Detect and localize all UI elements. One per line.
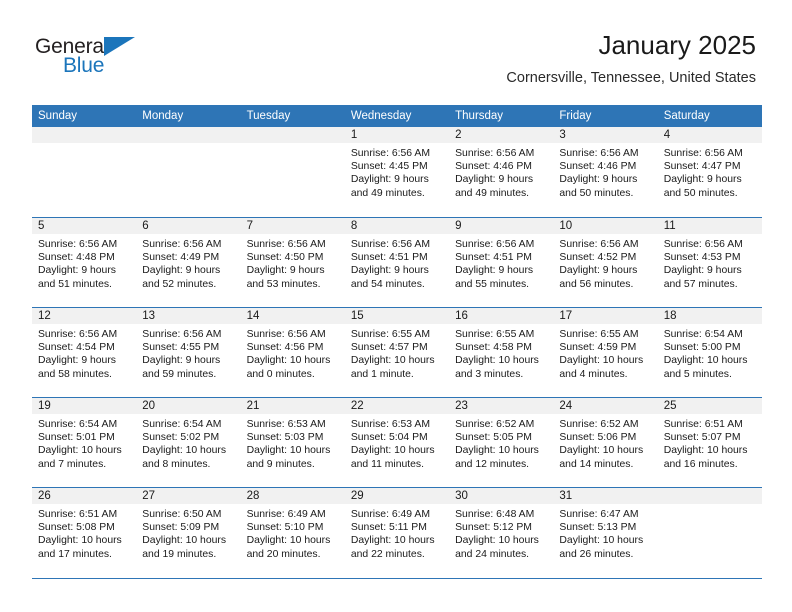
day-cell[interactable]: 16Sunrise: 6:55 AM Sunset: 4:58 PM Dayli… (449, 307, 553, 397)
day-cell[interactable]: 22Sunrise: 6:53 AM Sunset: 5:04 PM Dayli… (345, 397, 449, 487)
day-cell[interactable] (658, 487, 762, 577)
day-number: 14 (241, 308, 345, 324)
day-cell[interactable]: 23Sunrise: 6:52 AM Sunset: 5:05 PM Dayli… (449, 397, 553, 487)
day-cell[interactable]: 27Sunrise: 6:50 AM Sunset: 5:09 PM Dayli… (136, 487, 240, 577)
day-details: Sunrise: 6:55 AM Sunset: 4:59 PM Dayligh… (553, 324, 657, 381)
day-cell[interactable]: 3Sunrise: 6:56 AM Sunset: 4:46 PM Daylig… (553, 127, 657, 217)
day-number: 5 (32, 218, 136, 234)
day-cell[interactable]: 25Sunrise: 6:51 AM Sunset: 5:07 PM Dayli… (658, 397, 762, 487)
day-number: 17 (553, 308, 657, 324)
brand-logo[interactable]: General Blue (35, 36, 135, 76)
day-cell[interactable]: 20Sunrise: 6:54 AM Sunset: 5:02 PM Dayli… (136, 397, 240, 487)
day-cell[interactable]: 24Sunrise: 6:52 AM Sunset: 5:06 PM Dayli… (553, 397, 657, 487)
day-details: Sunrise: 6:56 AM Sunset: 4:52 PM Dayligh… (553, 234, 657, 291)
day-details: Sunrise: 6:49 AM Sunset: 5:11 PM Dayligh… (345, 504, 449, 561)
day-cell[interactable]: 31Sunrise: 6:47 AM Sunset: 5:13 PM Dayli… (553, 487, 657, 577)
day-number: 6 (136, 218, 240, 234)
day-number: 19 (32, 398, 136, 414)
day-details: Sunrise: 6:56 AM Sunset: 4:45 PM Dayligh… (345, 143, 449, 200)
day-number: 26 (32, 488, 136, 504)
day-details: Sunrise: 6:49 AM Sunset: 5:10 PM Dayligh… (241, 504, 345, 561)
day-cell[interactable]: 13Sunrise: 6:56 AM Sunset: 4:55 PM Dayli… (136, 307, 240, 397)
day-number: 30 (449, 488, 553, 504)
sunrise-sunset-calendar: Sunday Monday Tuesday Wednesday Thursday… (32, 105, 762, 577)
day-cell[interactable]: 7Sunrise: 6:56 AM Sunset: 4:50 PM Daylig… (241, 217, 345, 307)
day-cell[interactable]: 29Sunrise: 6:49 AM Sunset: 5:11 PM Dayli… (345, 487, 449, 577)
day-details: Sunrise: 6:53 AM Sunset: 5:03 PM Dayligh… (241, 414, 345, 471)
day-number (658, 488, 762, 504)
day-number: 24 (553, 398, 657, 414)
day-cell[interactable]: 6Sunrise: 6:56 AM Sunset: 4:49 PM Daylig… (136, 217, 240, 307)
day-cell[interactable] (32, 127, 136, 217)
location-subtitle: Cornersville, Tennessee, United States (506, 70, 756, 86)
day-details: Sunrise: 6:51 AM Sunset: 5:08 PM Dayligh… (32, 504, 136, 561)
day-details: Sunrise: 6:56 AM Sunset: 4:47 PM Dayligh… (658, 143, 762, 200)
triangle-flag-icon (104, 37, 135, 56)
page-title: January 2025 (506, 30, 756, 61)
day-details: Sunrise: 6:48 AM Sunset: 5:12 PM Dayligh… (449, 504, 553, 561)
column-header-sunday: Sunday (32, 105, 136, 127)
day-cell[interactable]: 18Sunrise: 6:54 AM Sunset: 5:00 PM Dayli… (658, 307, 762, 397)
calendar-body: 1Sunrise: 6:56 AM Sunset: 4:45 PM Daylig… (32, 127, 762, 577)
day-number: 21 (241, 398, 345, 414)
day-number: 20 (136, 398, 240, 414)
day-details: Sunrise: 6:55 AM Sunset: 4:58 PM Dayligh… (449, 324, 553, 381)
day-number (241, 127, 345, 143)
column-header-monday: Monday (136, 105, 240, 127)
day-number: 23 (449, 398, 553, 414)
day-cell[interactable]: 28Sunrise: 6:49 AM Sunset: 5:10 PM Dayli… (241, 487, 345, 577)
day-cell[interactable]: 19Sunrise: 6:54 AM Sunset: 5:01 PM Dayli… (32, 397, 136, 487)
day-details: Sunrise: 6:51 AM Sunset: 5:07 PM Dayligh… (658, 414, 762, 471)
day-details: Sunrise: 6:52 AM Sunset: 5:06 PM Dayligh… (553, 414, 657, 471)
day-details: Sunrise: 6:56 AM Sunset: 4:46 PM Dayligh… (553, 143, 657, 200)
day-number (136, 127, 240, 143)
day-cell[interactable]: 5Sunrise: 6:56 AM Sunset: 4:48 PM Daylig… (32, 217, 136, 307)
day-details: Sunrise: 6:56 AM Sunset: 4:50 PM Dayligh… (241, 234, 345, 291)
day-details: Sunrise: 6:54 AM Sunset: 5:00 PM Dayligh… (658, 324, 762, 381)
column-header-saturday: Saturday (658, 105, 762, 127)
day-cell[interactable]: 30Sunrise: 6:48 AM Sunset: 5:12 PM Dayli… (449, 487, 553, 577)
day-number: 3 (553, 127, 657, 143)
day-cell[interactable]: 12Sunrise: 6:56 AM Sunset: 4:54 PM Dayli… (32, 307, 136, 397)
day-number: 10 (553, 218, 657, 234)
day-details: Sunrise: 6:56 AM Sunset: 4:56 PM Dayligh… (241, 324, 345, 381)
day-number: 15 (345, 308, 449, 324)
day-details: Sunrise: 6:56 AM Sunset: 4:48 PM Dayligh… (32, 234, 136, 291)
calendar-bottom-rule (32, 578, 762, 579)
day-details: Sunrise: 6:56 AM Sunset: 4:51 PM Dayligh… (345, 234, 449, 291)
day-number: 28 (241, 488, 345, 504)
day-details: Sunrise: 6:54 AM Sunset: 5:01 PM Dayligh… (32, 414, 136, 471)
day-cell[interactable]: 10Sunrise: 6:56 AM Sunset: 4:52 PM Dayli… (553, 217, 657, 307)
column-header-wednesday: Wednesday (345, 105, 449, 127)
week-row: 5Sunrise: 6:56 AM Sunset: 4:48 PM Daylig… (32, 217, 762, 307)
day-cell[interactable]: 11Sunrise: 6:56 AM Sunset: 4:53 PM Dayli… (658, 217, 762, 307)
week-row: 1Sunrise: 6:56 AM Sunset: 4:45 PM Daylig… (32, 127, 762, 217)
week-row: 26Sunrise: 6:51 AM Sunset: 5:08 PM Dayli… (32, 487, 762, 577)
brand-top-row: General (35, 36, 135, 57)
day-number: 1 (345, 127, 449, 143)
day-cell[interactable]: 21Sunrise: 6:53 AM Sunset: 5:03 PM Dayli… (241, 397, 345, 487)
day-details: Sunrise: 6:56 AM Sunset: 4:49 PM Dayligh… (136, 234, 240, 291)
day-number: 12 (32, 308, 136, 324)
day-cell[interactable]: 17Sunrise: 6:55 AM Sunset: 4:59 PM Dayli… (553, 307, 657, 397)
day-number: 29 (345, 488, 449, 504)
day-details: Sunrise: 6:50 AM Sunset: 5:09 PM Dayligh… (136, 504, 240, 561)
day-cell[interactable]: 15Sunrise: 6:55 AM Sunset: 4:57 PM Dayli… (345, 307, 449, 397)
day-number: 9 (449, 218, 553, 234)
brand-word-blue: Blue (63, 55, 104, 76)
day-details: Sunrise: 6:47 AM Sunset: 5:13 PM Dayligh… (553, 504, 657, 561)
day-details (32, 143, 136, 147)
day-details (241, 143, 345, 147)
calendar-page: General Blue January 2025 Cornersville, … (0, 0, 792, 612)
day-details: Sunrise: 6:52 AM Sunset: 5:05 PM Dayligh… (449, 414, 553, 471)
day-details: Sunrise: 6:53 AM Sunset: 5:04 PM Dayligh… (345, 414, 449, 471)
page-header: General Blue January 2025 Cornersville, … (0, 0, 792, 100)
day-cell[interactable]: 2Sunrise: 6:56 AM Sunset: 4:46 PM Daylig… (449, 127, 553, 217)
day-number: 4 (658, 127, 762, 143)
day-details: Sunrise: 6:56 AM Sunset: 4:53 PM Dayligh… (658, 234, 762, 291)
day-details: Sunrise: 6:56 AM Sunset: 4:46 PM Dayligh… (449, 143, 553, 200)
day-number: 18 (658, 308, 762, 324)
column-header-thursday: Thursday (449, 105, 553, 127)
day-cell[interactable] (136, 127, 240, 217)
day-details: Sunrise: 6:56 AM Sunset: 4:51 PM Dayligh… (449, 234, 553, 291)
column-header-friday: Friday (553, 105, 657, 127)
weekday-header-row: Sunday Monday Tuesday Wednesday Thursday… (32, 105, 762, 127)
day-cell[interactable] (241, 127, 345, 217)
day-number: 11 (658, 218, 762, 234)
week-row: 12Sunrise: 6:56 AM Sunset: 4:54 PM Dayli… (32, 307, 762, 397)
day-details: Sunrise: 6:56 AM Sunset: 4:54 PM Dayligh… (32, 324, 136, 381)
day-details: Sunrise: 6:55 AM Sunset: 4:57 PM Dayligh… (345, 324, 449, 381)
day-cell[interactable]: 8Sunrise: 6:56 AM Sunset: 4:51 PM Daylig… (345, 217, 449, 307)
day-cell[interactable]: 1Sunrise: 6:56 AM Sunset: 4:45 PM Daylig… (345, 127, 449, 217)
day-number: 7 (241, 218, 345, 234)
day-number: 8 (345, 218, 449, 234)
day-details (658, 504, 762, 508)
day-details (136, 143, 240, 147)
day-number: 13 (136, 308, 240, 324)
day-number: 2 (449, 127, 553, 143)
day-number: 16 (449, 308, 553, 324)
day-cell[interactable]: 26Sunrise: 6:51 AM Sunset: 5:08 PM Dayli… (32, 487, 136, 577)
day-details: Sunrise: 6:56 AM Sunset: 4:55 PM Dayligh… (136, 324, 240, 381)
day-number: 27 (136, 488, 240, 504)
day-cell[interactable]: 9Sunrise: 6:56 AM Sunset: 4:51 PM Daylig… (449, 217, 553, 307)
day-number: 22 (345, 398, 449, 414)
day-number: 25 (658, 398, 762, 414)
calendar-header: Sunday Monday Tuesday Wednesday Thursday… (32, 105, 762, 127)
title-block: January 2025 Cornersville, Tennessee, Un… (506, 30, 756, 86)
column-header-tuesday: Tuesday (241, 105, 345, 127)
day-details: Sunrise: 6:54 AM Sunset: 5:02 PM Dayligh… (136, 414, 240, 471)
day-number: 31 (553, 488, 657, 504)
day-number (32, 127, 136, 143)
day-cell[interactable]: 14Sunrise: 6:56 AM Sunset: 4:56 PM Dayli… (241, 307, 345, 397)
day-cell[interactable]: 4Sunrise: 6:56 AM Sunset: 4:47 PM Daylig… (658, 127, 762, 217)
week-row: 19Sunrise: 6:54 AM Sunset: 5:01 PM Dayli… (32, 397, 762, 487)
brand-word-general: General (35, 36, 108, 57)
